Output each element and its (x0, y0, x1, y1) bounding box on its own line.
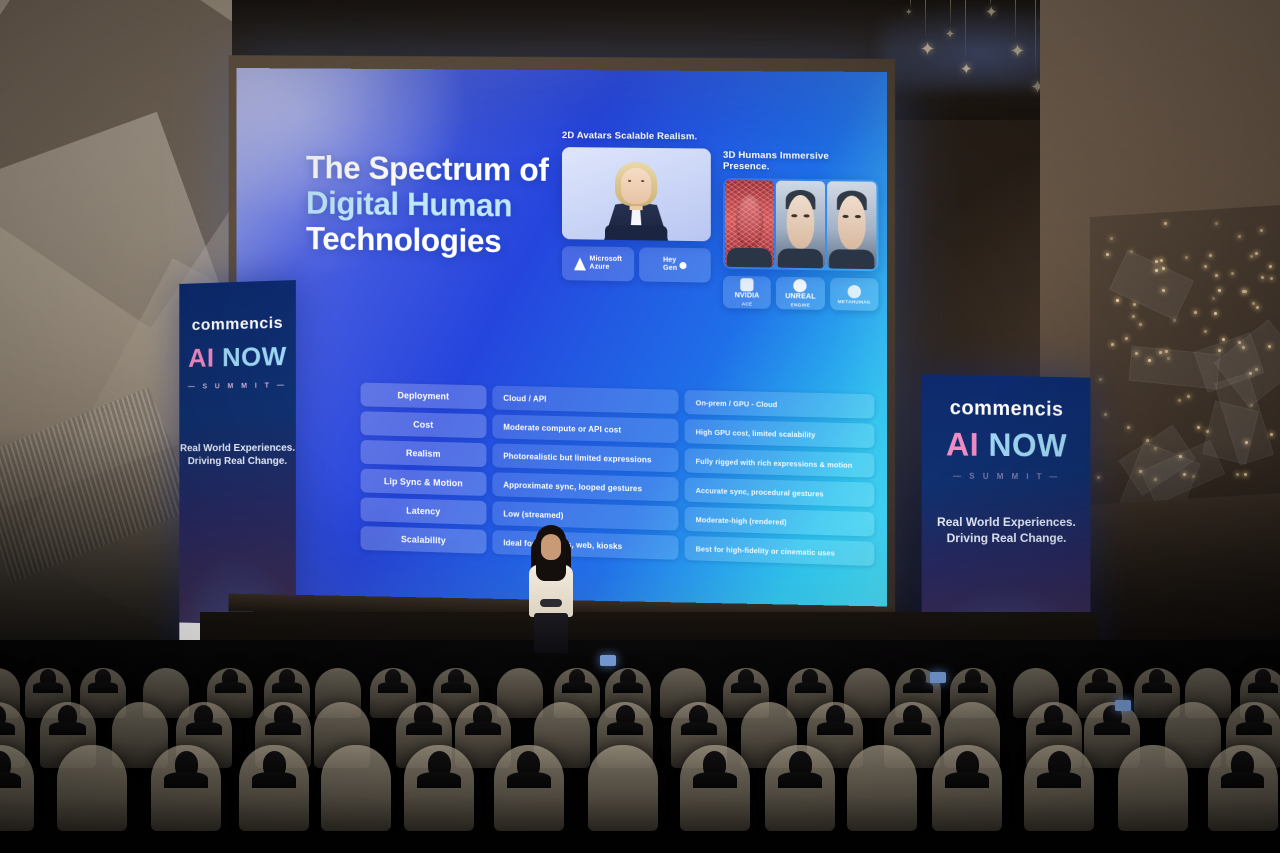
unreal-icon (794, 279, 807, 292)
banner-right-summit: — S U M M I T — (922, 471, 1091, 481)
audience-phone-screen (600, 655, 616, 666)
slide-title-line2: Digital Human (306, 185, 557, 224)
audience-shoulders (778, 772, 822, 788)
row-label: Realism (406, 448, 441, 459)
wall-sparkle-light (1255, 252, 1258, 255)
wall-sparkle-light (1197, 426, 1200, 429)
audience-shoulders (1036, 722, 1072, 735)
audience-chair (1118, 745, 1188, 831)
audience-shoulders (186, 722, 222, 735)
audience-shoulders (693, 772, 737, 788)
wall-sparkle-light (1133, 303, 1136, 306)
wall-sparkle-light (1125, 337, 1128, 340)
vendor-chip-heygen[interactable]: Hey Gen (639, 247, 711, 282)
vendor-chip-unreal[interactable]: UNREAL ENGINE (776, 277, 824, 310)
row-value-2d: Moderate compute or API cost (492, 414, 678, 443)
row-value-2d: Cloud / API (492, 386, 678, 414)
audience-shoulders (252, 772, 296, 788)
audience (0, 640, 1280, 853)
chandelier-star-icon: ✦ (945, 28, 955, 40)
audience-shoulders (1094, 722, 1130, 735)
comparison-table: DeploymentCloud / APIOn-prem / GPU - Clo… (361, 383, 875, 572)
wall-sparkle-light (1256, 306, 1259, 309)
audience-shoulders (441, 682, 471, 693)
humans-3d-image (723, 178, 879, 271)
chandelier-rod (965, 0, 966, 62)
audience-shoulders (613, 682, 643, 693)
audience-shoulders (88, 682, 118, 693)
audience-shoulders (265, 722, 301, 735)
audience-shoulders (378, 682, 408, 693)
vendor-metahuman-name: METAHUMAN (838, 299, 871, 305)
audience-shoulders (958, 682, 988, 693)
audience-shoulders (1221, 772, 1265, 788)
row-value-3d: On-prem / GPU - Cloud (685, 390, 875, 419)
wall-sparkle-light (1099, 378, 1102, 381)
wall-sparkle-light (1132, 315, 1135, 318)
audience-shoulders (945, 772, 989, 788)
wall-sparkle-light (1260, 229, 1263, 232)
audience-chair (497, 668, 543, 718)
audience-shoulders (1236, 722, 1272, 735)
banner-right-ai: AI (946, 426, 979, 463)
wall-sparkle-light (1252, 302, 1255, 305)
banner-left-tagline2: Driving Real Change. (179, 455, 296, 468)
chandelier-rod (950, 0, 951, 28)
audience-shoulders (1248, 682, 1278, 693)
row-label: Cost (413, 419, 433, 429)
audience-chair (321, 745, 391, 831)
wall-facet (1128, 346, 1220, 390)
conference-photo: ✦✦✦✦✦✦✦✦✦✦✦✦✦✦✦✦✦✦✦✦ The Spectrum of Dig… (0, 0, 1280, 853)
wall-sparkle-light (1185, 256, 1188, 259)
row-label: Lip Sync & Motion (384, 476, 463, 488)
column-2d-avatars: 2D Avatars Scalable Realism. (562, 130, 711, 283)
row-label-cell: Lip Sync & Motion (361, 469, 487, 496)
chandelier-star-icon: ✦ (985, 5, 998, 20)
audience-shoulders (1037, 772, 1081, 788)
row-value-3d: Best for high-fidelity or cinematic uses (685, 536, 875, 566)
column-2d-header: 2D Avatars Scalable Realism. (562, 130, 711, 142)
row-label-cell: Latency (361, 497, 487, 525)
head-render-photoreal (827, 181, 876, 269)
vendor-chip-nvidia[interactable]: NVIDIA ACE (723, 276, 771, 309)
wall-sparkle-light (1111, 343, 1114, 346)
banner-right-now: NOW (988, 427, 1067, 464)
wall-sparkle-light (1269, 265, 1272, 268)
audience-phone-screen (1115, 700, 1131, 711)
banner-right-brand: commencis (922, 397, 1091, 423)
vendor-chips-3d: NVIDIA ACE UNREAL ENGINE METAHUMAN (723, 276, 879, 311)
row-label-cell: Deployment (361, 383, 487, 410)
banner-left-brand: commencis (179, 314, 296, 335)
vendor-chip-azure[interactable]: Microsoft Azure (562, 246, 634, 281)
wall-facet (1109, 249, 1194, 320)
azure-triangle-icon (574, 257, 586, 270)
wall-sparkle-light (1164, 222, 1167, 225)
audience-chair (588, 745, 658, 831)
audience-shoulders (681, 722, 717, 735)
row-label-cell: Cost (361, 411, 487, 438)
row-value-3d: Moderate-high (rendered) (685, 507, 875, 537)
audience-shoulders (795, 682, 825, 693)
row-value-3d: Accurate sync, procedural gestures (685, 478, 875, 508)
vendor-unreal-name: UNREAL (785, 293, 815, 301)
wall-sparkle-light (1214, 312, 1217, 315)
audience-shoulders (0, 772, 21, 788)
wall-sparkle-light (1127, 426, 1130, 429)
wall-sparkle-light (1218, 289, 1221, 292)
banner-right-tagline2: Driving Real Change. (922, 531, 1091, 547)
audience-shoulders (272, 682, 302, 693)
audience-shoulders (417, 772, 461, 788)
audience-shoulders (215, 682, 245, 693)
wall-sparkle-light (1270, 277, 1273, 280)
wall-sparkle-light (1204, 265, 1207, 268)
heygen-dot-icon (679, 261, 686, 268)
banner-right-tagline1: Real World Experiences. (922, 515, 1091, 531)
audience-shoulders (1085, 682, 1115, 693)
slide-title-line3: Technologies (306, 221, 557, 261)
chandelier-star-icon: ✦ (920, 40, 935, 58)
banner-left-summit: — S U M M I T — (179, 382, 296, 391)
row-label-cell: Scalability (361, 526, 487, 554)
vendor-heygen-name: Hey (663, 257, 677, 265)
row-value-3d: High GPU cost, limited scalability (685, 419, 875, 448)
wall-sparkle-light (1261, 276, 1264, 279)
banner-left-ai: AI (188, 343, 214, 373)
audience-shoulders (49, 722, 85, 735)
chandelier-rod (1015, 0, 1016, 42)
slide-title: The Spectrum of Digital Human Technologi… (306, 149, 557, 260)
vendor-heygen-sub: Gen (663, 265, 677, 273)
banner-left-tagline1: Real World Experiences. (179, 442, 296, 456)
presenter-clicker (540, 599, 562, 607)
audience-chair (847, 745, 917, 831)
wall-sparkle-light (1194, 311, 1197, 314)
avatar-2d-image (562, 147, 711, 241)
row-label: Latency (406, 506, 440, 517)
audience-shoulders (562, 682, 592, 693)
row-value-2d: Approximate sync, looped gestures (492, 472, 678, 501)
speaker (516, 525, 586, 650)
chandelier-star-icon: ✦ (905, 8, 913, 17)
wall-sparkle-light (1178, 399, 1181, 402)
audience-shoulders (607, 722, 643, 735)
wall-sparkle-light (1270, 433, 1273, 436)
banner-left-now: NOW (222, 341, 287, 372)
audience-chair (57, 745, 127, 831)
metahuman-icon (847, 284, 860, 297)
audience-shoulders (0, 722, 15, 735)
audience-phone-screen (930, 672, 946, 683)
row-label: Deployment (397, 390, 449, 401)
wall-sparkle-light (1209, 254, 1212, 257)
row-value-2d: Photorealistic but limited expressions (492, 443, 678, 472)
wall-sparkle-light (1238, 235, 1241, 238)
wall-sparkle-light (1104, 413, 1107, 416)
wall-sparkle-light (1215, 222, 1218, 225)
vendor-nvidia-sub: ACE (742, 301, 753, 306)
audience-shoulders (1142, 682, 1172, 693)
row-label-cell: Realism (361, 440, 487, 467)
vendor-chips-2d: Microsoft Azure Hey Gen (562, 246, 711, 283)
wall-sparkle-light (1110, 237, 1113, 240)
wall-sparkle-light (1116, 299, 1119, 302)
column-3d-header: 3D Humans Immersive Presence. (723, 150, 879, 174)
wall-sparkle-light (1215, 274, 1218, 277)
audience-shoulders (903, 682, 933, 693)
wall-sparkle-light (1204, 330, 1207, 333)
head-render-midfidelity (776, 181, 825, 269)
vendor-azure-sub: Azure (590, 264, 622, 272)
column-3d-humans: 3D Humans Immersive Presence. (723, 150, 879, 311)
row-value-3d: Fully rigged with rich expressions & mot… (685, 448, 875, 477)
chandelier-rod (1035, 0, 1036, 78)
vendor-chip-metahuman[interactable]: METAHUMAN (830, 278, 879, 311)
audience-shoulders (817, 722, 853, 735)
row-label: Scalability (401, 534, 446, 545)
vendor-nvidia-name: NVIDIA (735, 292, 760, 300)
head-render-wireframe (725, 180, 774, 268)
nvidia-icon (740, 278, 753, 291)
wall-sparkle-light (1250, 255, 1253, 258)
wall-sparkle-light (1212, 297, 1215, 300)
vendor-unreal-sub: ENGINE (791, 302, 811, 307)
wall-sparkle-light (1231, 272, 1234, 275)
audience-shoulders (731, 682, 761, 693)
audience-shoulders (894, 722, 930, 735)
wall-sparkle-light (1187, 395, 1190, 398)
audience-shoulders (33, 682, 63, 693)
wall-sparkle-light (1106, 253, 1109, 256)
audience-shoulders (465, 722, 501, 735)
audience-shoulders (164, 772, 208, 788)
audience-shoulders (507, 772, 551, 788)
slide-title-line1: The Spectrum of (306, 149, 557, 188)
chandelier-star-icon: ✦ (1010, 42, 1025, 60)
chandelier-star-icon: ✦ (960, 62, 973, 77)
audience-shoulders (406, 722, 442, 735)
wall-sparkle-light (1160, 259, 1163, 262)
wall-sparkle-light (1139, 323, 1142, 326)
chandelier-rod (925, 0, 926, 40)
